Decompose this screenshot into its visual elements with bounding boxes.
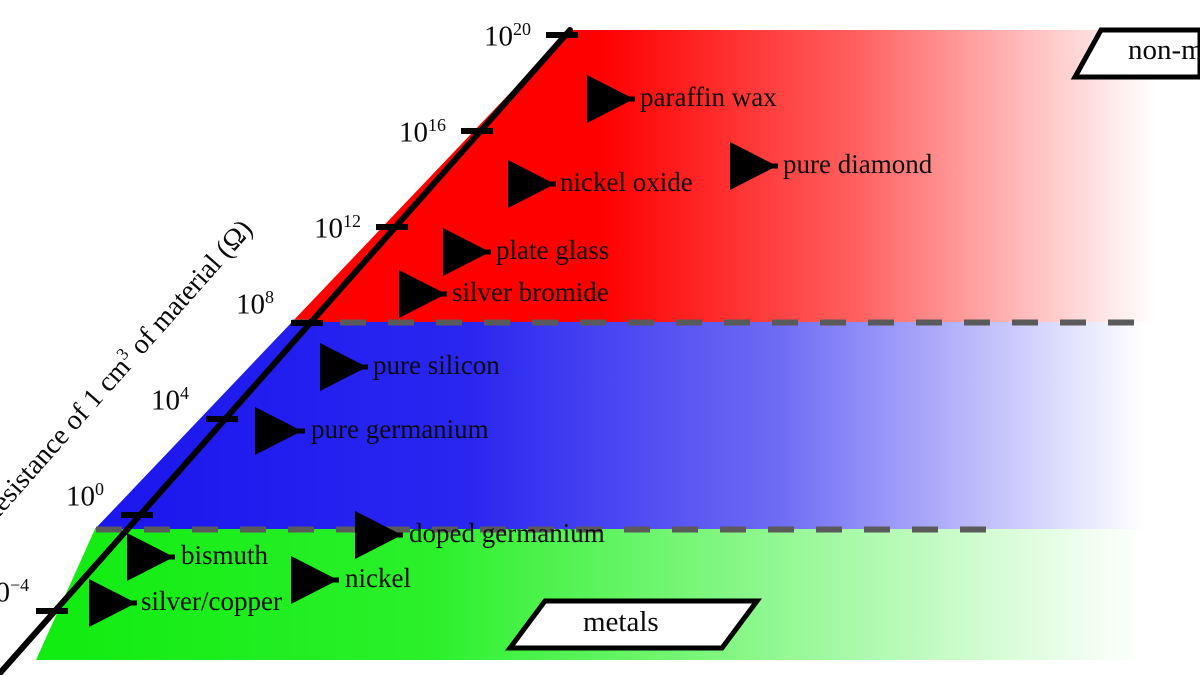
tick-label-10e16: 1016: [399, 116, 446, 148]
material-label-pure-diamond: pure diamond: [783, 151, 932, 178]
resistivity-diagram: Resistance of 1 cm3 of material (Ω) 1020…: [0, 0, 1200, 675]
tick-exponent: 0: [95, 479, 104, 499]
tick-base: 10: [484, 21, 513, 53]
band-semiconductors: [95, 322, 1200, 529]
tick-exponent: 16: [428, 115, 446, 135]
tick-base: 10: [236, 289, 265, 321]
band-non-metals: [292, 30, 1200, 322]
tick-base: 10: [399, 117, 428, 149]
tick-label-10e8: 108: [236, 288, 274, 320]
material-label-pure-silicon: pure silicon: [373, 352, 500, 379]
tick-label-10e-4: 10−4: [0, 576, 29, 608]
material-label-nickel: nickel: [345, 565, 411, 592]
material-label-plate-glass: plate glass: [496, 237, 609, 264]
tick-label-10e0: 100: [66, 480, 104, 512]
material-label-silver-bromide: silver bromide: [452, 279, 609, 306]
tick-exponent: 20: [513, 19, 531, 39]
material-label-nickel-oxide: nickel oxide: [560, 169, 693, 196]
tick-base: 10: [0, 577, 10, 609]
tick-base: 10: [66, 481, 95, 513]
tick-exponent: −4: [10, 575, 29, 595]
material-label-doped-germanium: doped germanium: [409, 520, 605, 547]
material-label-bismuth: bismuth: [181, 542, 268, 569]
material-label-paraffin-wax: paraffin wax: [640, 84, 777, 111]
callout-label-metals[interactable]: metals: [583, 608, 659, 637]
tick-exponent: 8: [265, 287, 274, 307]
material-label-silver-copper: silver/copper: [141, 588, 282, 615]
tick-base: 10: [314, 213, 343, 245]
tick-label-10e20: 1020: [484, 20, 531, 52]
tick-exponent: 12: [343, 211, 361, 231]
tick-label-10e12: 1012: [314, 212, 361, 244]
diagram-canvas: [0, 0, 1200, 675]
callout-label-non-metals[interactable]: non-m: [1128, 36, 1200, 65]
tick-label-10e4: 104: [151, 384, 189, 416]
tick-base: 10: [151, 385, 180, 417]
tick-exponent: 4: [180, 383, 189, 403]
material-label-pure-germanium: pure germanium: [311, 416, 489, 443]
